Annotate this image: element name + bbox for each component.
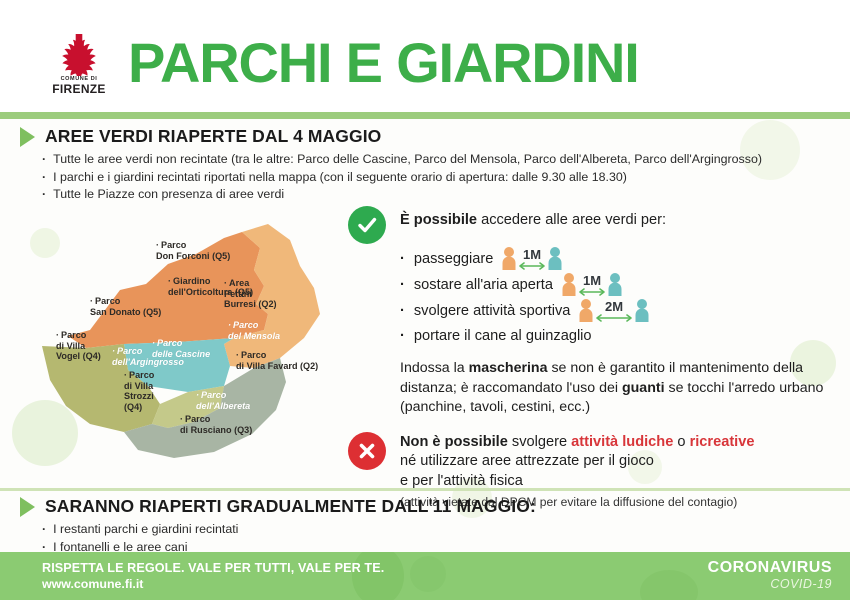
allowed-lead-rest: accedere alle aree verdi per: [477, 212, 666, 228]
rules-panel: È possibile accedere alle aree verdi per… [348, 206, 848, 510]
activity-label: portare il cane al guinzaglio [414, 324, 592, 349]
activity-label: passeggiare [414, 247, 494, 272]
allowed-lead-bold: È possibile [400, 212, 477, 228]
allowed-block: È possibile accedere alle aree verdi per… [348, 206, 848, 244]
two-people-2m-icon: 2M [578, 298, 650, 324]
forbidden-line-2: né utilizzare aree attrezzate per il gio… [400, 453, 654, 469]
map-label-argingrosso: ·Parco dell'Argingrosso [112, 346, 184, 367]
activity-label: sostare all'aria aperta [414, 273, 553, 298]
footer-decorative-blob [410, 556, 446, 592]
forbidden-lead-bold: Non è possibile [400, 434, 508, 450]
map-label-san-donato: ·Parco San Donato (Q5) [90, 296, 161, 317]
comune-firenze-logo: COMUNE DI FIRENZE [38, 32, 120, 96]
section2-heading: SARANNO RIAPERTI GRADUALMENTE DALL'11 MA… [45, 496, 536, 517]
infographic-poster: COMUNE DI FIRENZE PARCHI E GIARDINI AREE… [0, 0, 850, 600]
x-circle-icon [348, 432, 386, 470]
footer-brand-subtitle: COVID-19 [708, 577, 832, 592]
page-title: PARCHI E GIARDINI [128, 34, 639, 92]
footer-left-text: RISPETTA LE REGOLE. VALE PER TUTTI, VALE… [42, 560, 384, 592]
activity-label: svolgere attività sportiva [414, 299, 571, 324]
svg-text:2M: 2M [605, 299, 623, 314]
triangle-bullet-icon [20, 497, 35, 517]
list-item: Tutte le Piazze con presenza di aree ver… [42, 186, 850, 204]
forbidden-mid-2: o [673, 434, 689, 450]
distance-icon-1m: 1M [501, 246, 563, 272]
map-label-mensola: ·Parco del Mensola [228, 320, 280, 341]
section1-heading: AREE VERDI RIAPERTE DAL 4 MAGGIO [45, 126, 381, 147]
map-label-don-forconi: ·Parco Don Forconi (Q5) [156, 240, 230, 261]
map-label-villa-favard: ·Parco di Villa Favard (Q2) [236, 350, 318, 371]
allowed-activity-list: passeggiare 1M sostare all'aria aperta [400, 246, 848, 349]
footer-brand: CORONAVIRUS COVID-19 [708, 559, 832, 592]
map-label-rusciano: ·Parco di Rusciano (Q3) [180, 414, 252, 435]
forbidden-red-2: ricreative [690, 434, 755, 450]
footer-decorative-blob [640, 570, 698, 600]
list-item: I parchi e i giardini recintati riportat… [42, 169, 850, 187]
forbidden-text: Non è possibile svolgere attività ludich… [400, 432, 754, 492]
svg-text:1M: 1M [583, 273, 601, 288]
footer-brand-title: CORONAVIRUS [708, 559, 832, 577]
forbidden-red-1: attività ludiche [571, 434, 673, 450]
poster-header: COMUNE DI FIRENZE PARCHI E GIARDINI [0, 0, 850, 112]
section-aree-verdi: AREE VERDI RIAPERTE DAL 4 MAGGIO Tutte l… [0, 126, 850, 204]
two-people-1m-icon: 1M [561, 272, 623, 298]
list-item-sostare: sostare all'aria aperta 1M [400, 272, 848, 298]
section1-bullet-list: Tutte le aree verdi non recintate (tra l… [42, 151, 850, 204]
forbidden-mid: svolgere [508, 434, 571, 450]
section-riaperti-graduali: SARANNO RIAPERTI GRADUALMENTE DALL'11 MA… [0, 496, 850, 556]
map-label-villa-strozzi: ·Parco di Villa Strozzi (Q4) [124, 370, 154, 412]
header-divider [0, 112, 850, 119]
allowed-lead: È possibile accedere alle aree verdi per… [400, 206, 666, 230]
note-part-1: Indossa la [400, 360, 469, 376]
logo-firenze-text: FIRENZE [38, 83, 120, 96]
list-item-sportiva: svolgere attività sportiva 2M [400, 298, 848, 324]
footer-website[interactable]: www.comune.fi.it [42, 576, 384, 592]
list-item: Tutte le aree verdi non recintate (tra l… [42, 151, 850, 169]
florence-parks-map: ·Parco Don Forconi (Q5) ·Giardino dell'O… [28, 218, 358, 468]
note-mascherina: mascherina [469, 360, 548, 376]
map-label-pettini-burresi: ·Area Pettini Burresi (Q2) [224, 278, 277, 310]
distance-icon-1m-b: 1M [561, 272, 623, 298]
svg-text:1M: 1M [523, 247, 541, 262]
poster-footer: RISPETTA LE REGOLE. VALE PER TUTTI, VALE… [0, 552, 850, 600]
distance-icon-2m: 2M [578, 298, 650, 324]
triangle-bullet-icon [20, 127, 35, 147]
map-label-albereta: ·Parco dell'Albereta [196, 390, 250, 411]
map-label-villa-vogel: ·Parco di Villa Vogel (Q4) [56, 330, 101, 362]
x-glyph [357, 441, 377, 461]
fleur-de-lis-icon [56, 32, 102, 76]
list-item-passeggiare: passeggiare 1M [400, 246, 848, 272]
forbidden-block: Non è possibile svolgere attività ludich… [348, 432, 848, 492]
section2-bullet-list: I restanti parchi e giardini recintati I… [42, 521, 850, 556]
list-item-cane: portare il cane al guinzaglio [400, 324, 848, 349]
check-glyph [356, 214, 378, 236]
mask-gloves-note: Indossa la mascherina se non è garantito… [400, 359, 848, 418]
two-people-1m-icon: 1M [501, 246, 563, 272]
list-item: I restanti parchi e giardini recintati [42, 521, 850, 539]
check-circle-icon [348, 206, 386, 244]
section2-divider [0, 488, 850, 491]
note-guanti: guanti [622, 380, 665, 396]
footer-slogan: RISPETTA LE REGOLE. VALE PER TUTTI, VALE… [42, 560, 384, 576]
forbidden-line-3: e per l'attività fisica [400, 473, 523, 489]
